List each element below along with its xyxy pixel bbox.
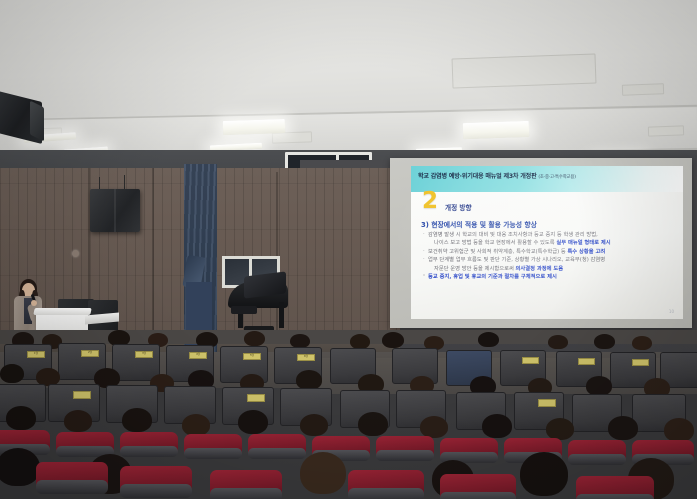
seat-armrest [440,492,516,499]
attendee-head [350,334,370,349]
attendee-head [300,414,328,436]
seat-armrest [348,488,424,499]
slide-bullet: 나이스 보고 방법 등을 학교 현장에서 활용할 수 있도록 실무 매뉴얼 형태… [423,240,677,246]
projected-slide: 학교 감염병 예방·위기대응 매뉴얼 제3차 개정판 (초·중·고·특수학교용)… [411,166,683,319]
ceiling-light [463,121,530,139]
slide-bullet: 업무 단계별 업무 흐름도 및 판단 기준, 상황별 가상 시나리오, 교육부(… [423,257,677,263]
attendee-head [546,418,574,440]
seat-armrest [376,450,434,461]
bullet-text: 감염병 발생 시 학교의 대비 및 대응 조치사항과 등교 중지 등 학생 관리… [428,232,598,238]
wall-fixture-icon [72,250,79,257]
attendee-head [290,334,310,348]
slide-bullet: 자문단 운영 방안 등을 제시함으로써 의사결정 과정에 도움 [423,266,677,272]
seat-number-plate: 2열 [81,350,99,357]
ceiling-vent [648,125,684,136]
seat-number-plate [632,359,649,366]
slide-bullet: 등교 중지, 휴업 및 휴교의 기준과 절차를 구체적으로 제시 [423,274,677,280]
slide-section-label: 개정 방향 [445,202,472,212]
attendee-head [632,336,652,350]
attendee-head [548,335,568,349]
seat-armrest [120,484,192,498]
attendee-head [420,416,448,438]
ceiling-monitor-side [30,101,44,142]
attendee-head [0,364,24,383]
presenter-hand [31,300,37,306]
podium-top [33,308,91,315]
slide-bullet: 보건취약 고위험군 및 사회적 취약계층, 특수학교(특수학급) 등 특수 상황… [423,249,677,255]
seat-armrest [248,448,306,459]
slide-title-main: 학교 감염병 예방·위기대응 매뉴얼 제3차 개정판 [418,173,536,180]
attendee-head [182,414,210,436]
bullet-highlight: 특수 상황을 고려 [567,249,605,255]
slide-title-sub: (초·중·고·특수학교용) [538,175,575,180]
attendee-head [238,410,268,434]
piano-bench [231,306,257,314]
bullet-text: 보건취약 고위험군 및 사회적 취약계층, 특수학교(특수학급) 등 [428,249,567,255]
aisle-floor [0,330,697,344]
bullet-highlight: 실무 매뉴얼 형태로 제시 [556,240,610,246]
slide-banner-title: 학교 감염병 예방·위기대응 매뉴얼 제3차 개정판 (초·중·고·특수학교용) [418,171,576,180]
attendee-head [594,334,615,349]
attendee-head [300,452,346,494]
seat-number-plate: 6열 [297,354,315,361]
seat-number-plate [73,391,91,399]
attendee-head [122,408,152,432]
attendee-head [64,410,92,432]
ceiling-light [223,119,285,135]
seat-number-plate: 3열 [135,351,153,358]
bullet-text: 자문단 운영 방안 등을 제시함으로써 [434,266,516,272]
bullet-text: 나이스 보고 방법 등을 학교 현장에서 활용할 수 있도록 [434,240,556,246]
seat-armrest [184,448,242,459]
bullet-highlight: 의사결정 과정에 도움 [516,266,564,272]
seat-number-plate: 1열 [27,351,45,358]
hanging-speaker-icon [90,189,140,232]
attendee-head [296,370,322,390]
attendee-head [0,448,40,486]
seat-armrest [576,494,654,499]
attendee-head [520,452,568,496]
attendee-head [382,332,404,348]
attendee-head [244,331,265,346]
slide-section-number: 2 [422,190,438,213]
attendee-head [358,412,388,436]
seat-number-plate [522,357,539,364]
attendee-head [6,406,36,430]
seat-number-plate: 5열 [243,353,261,360]
ceiling-light-frame [452,53,597,88]
seat-armrest [120,446,178,457]
audience-seating: 1열 2열 3열 4열 5열 6열 [0,330,697,499]
attendee-head [664,418,694,442]
attendee-head [586,376,612,396]
bullet-text: 업무 단계별 업무 흐름도 및 판단 기준, 상황별 가상 시나리오, 교육부(… [428,257,605,263]
seat-number-plate [538,399,556,407]
slide-bullet-list: 감염병 발생 시 학교의 대비 및 대응 조치사항과 등교 중지 등 학생 관리… [423,232,677,283]
seat-number-plate [578,358,595,365]
seat-armrest [210,488,282,499]
auditorium-photo: 학교 감염병 예방·위기대응 매뉴얼 제3차 개정판 (초·중·고·특수학교용)… [0,0,697,499]
attendee-head [478,332,499,347]
attendee-head [608,416,638,440]
projection-screen: 학교 감염병 예방·위기대응 매뉴얼 제3차 개정판 (초·중·고·특수학교용)… [390,158,692,328]
ceiling-vent [622,83,664,95]
slide-bullet: 감염병 발생 시 학교의 대비 및 대응 조치사항과 등교 중지 등 학생 관리… [423,232,677,238]
seat-armrest [568,454,626,465]
bullet-text: 등교 중지, 휴업 및 휴교의 기준과 절차를 구체적으로 제시 [428,274,557,280]
seat-number-plate [247,394,265,402]
attendee-head [482,414,512,438]
seat-armrest [36,480,108,494]
seat-number-plate: 4열 [189,352,207,359]
slide-heading: 3) 현장에서의 적용 및 활용 가능성 향상 [421,219,537,229]
slide-page-number: 10 [669,309,674,314]
piano-leg [279,302,284,328]
